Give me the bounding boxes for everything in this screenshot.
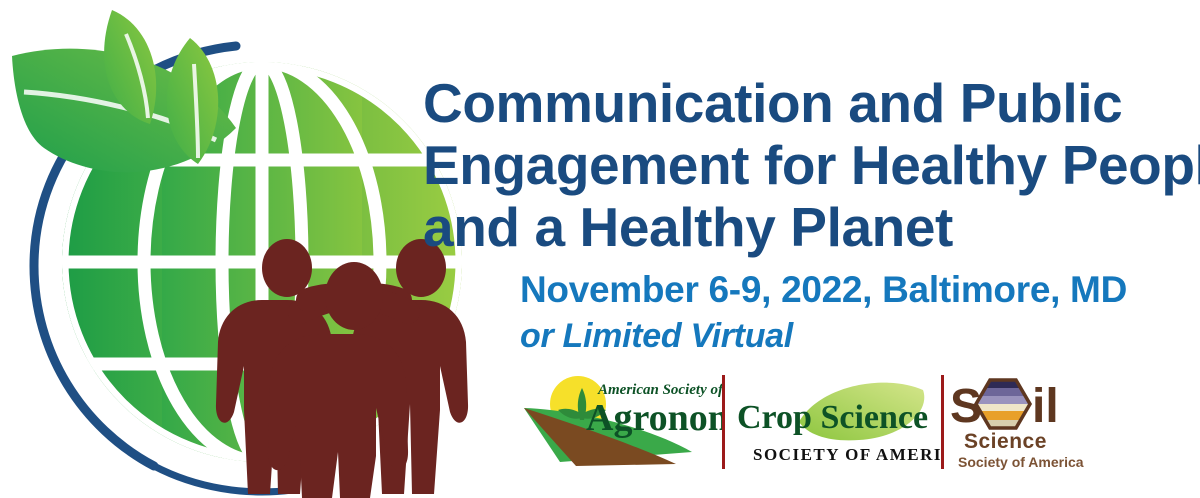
headline-line-2: Engagement for Healthy People bbox=[423, 134, 1200, 196]
cropscience-main-text: Crop Science bbox=[737, 399, 928, 436]
cropscience-sub-text: SOCIETY OF AMERICA bbox=[753, 445, 941, 464]
event-details: November 6-9, 2022, Baltimore, MD or Lim… bbox=[520, 266, 1200, 360]
agronomy-main-text: Agronomy bbox=[586, 397, 722, 439]
soil-line-three: Society of America bbox=[958, 454, 1084, 470]
page-title: Communication and Public Engagement for … bbox=[423, 72, 1200, 258]
society-logo-strip: American Society of Agronomy Crop Scienc… bbox=[520, 366, 1180, 478]
headline-line-1: Communication and Public bbox=[423, 72, 1200, 134]
soil-line-two: Science bbox=[964, 430, 1047, 453]
crop-science-society-of-america-logo: Crop Science SOCIETY OF AMERICA bbox=[725, 366, 941, 478]
person-left-head bbox=[262, 239, 312, 297]
conference-banner: Communication and Public Engagement for … bbox=[0, 0, 1200, 498]
soil-main-text-right: il bbox=[1032, 380, 1059, 433]
event-attendance-option: or Limited Virtual bbox=[520, 313, 1200, 360]
soil-science-society-of-america-logo: S il Science Society of America bbox=[944, 366, 1084, 478]
leaf-cluster bbox=[12, 10, 236, 172]
event-date-location: November 6-9, 2022, Baltimore, MD bbox=[520, 266, 1200, 313]
person-center-head bbox=[325, 262, 383, 330]
soil-profile-hexagon-icon bbox=[974, 378, 1032, 430]
agronomy-top-text: American Society of bbox=[597, 382, 722, 398]
american-society-of-agronomy-logo: American Society of Agronomy bbox=[520, 366, 722, 478]
headline-line-3: and a Healthy Planet bbox=[423, 196, 1200, 258]
